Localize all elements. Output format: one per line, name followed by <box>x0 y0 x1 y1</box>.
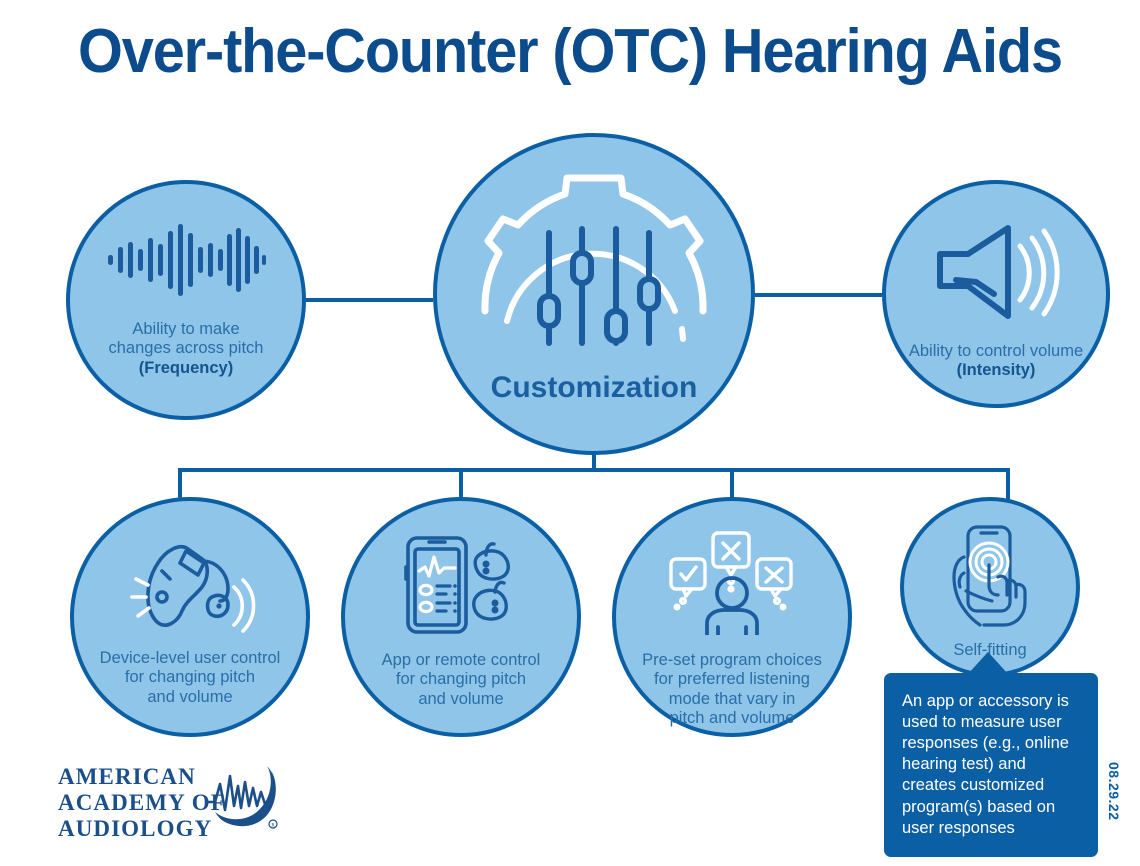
node-frequency[interactable]: Ability to make changes across pitch (Fr… <box>66 180 306 420</box>
node-customization[interactable]: Customization <box>433 133 755 455</box>
node-app-control[interactable]: App or remote control for changing pitch… <box>341 497 581 737</box>
speaker-volume-icon <box>886 224 1106 320</box>
node-customization-label: Customization <box>491 370 698 405</box>
person-choices-icon <box>616 531 848 635</box>
caption-line-3: mode that vary in <box>669 690 796 708</box>
node-preset-caption: Pre-set program choices for preferred li… <box>642 651 822 729</box>
caption-line-2: for changing pitch <box>396 670 526 688</box>
caption-line-3: and volume <box>147 688 232 706</box>
caption-line-2: for changing pitch <box>125 668 255 686</box>
caption-line-3: and volume <box>418 690 503 708</box>
aaa-logo: AMERICAN ACADEMY OF AUDIOLOGY R <box>58 762 278 842</box>
smartphone-hearing-aids-icon <box>345 535 577 635</box>
date-stamp: 08.29.22 <box>1106 762 1122 821</box>
callout-arrow-icon <box>967 652 1009 675</box>
caption-line-1: App or remote control <box>382 651 541 669</box>
node-intensity-caption: Ability to control volume (Intensity) <box>909 342 1083 381</box>
node-intensity[interactable]: Ability to control volume (Intensity) <box>882 180 1110 408</box>
caption-line-1: Device-level user control <box>100 649 281 667</box>
caption-line-2: for preferred listening <box>654 670 810 688</box>
audiology-waveform-crescent-logo-icon: R <box>201 762 279 830</box>
callout-self-fitting: An app or accessory is used to measure u… <box>884 673 1098 857</box>
gear-sliders-icon <box>437 161 751 346</box>
infographic-canvas: Over-the-Counter (OTC) Hearing Aids <box>0 0 1140 866</box>
node-app-caption: App or remote control for changing pitch… <box>382 651 541 709</box>
caption-line-2: changes across pitch <box>108 339 263 357</box>
node-frequency-caption: Ability to make changes across pitch (Fr… <box>108 320 263 378</box>
page-title: Over-the-Counter (OTC) Hearing Aids <box>40 16 1100 87</box>
hearing-aid-icon <box>74 535 306 633</box>
caption-bold: (Intensity) <box>957 361 1036 379</box>
caption-line-1: Pre-set program choices <box>642 651 822 669</box>
node-device-caption: Device-level user control for changing p… <box>100 649 281 707</box>
caption-line-1: Ability to make <box>132 320 239 338</box>
caption-bold: (Frequency) <box>139 359 233 377</box>
caption-line-1: Ability to control volume <box>909 342 1083 360</box>
node-preset-programs[interactable]: Pre-set program choices for preferred li… <box>612 497 852 737</box>
caption-line-4: pitch and volume <box>670 709 795 727</box>
node-self-fitting[interactable]: Self-fitting <box>900 497 1080 677</box>
hands-phone-tap-icon <box>904 525 1076 629</box>
node-device-control[interactable]: Device-level user control for changing p… <box>70 497 310 737</box>
audio-waveform-icon <box>70 222 302 298</box>
